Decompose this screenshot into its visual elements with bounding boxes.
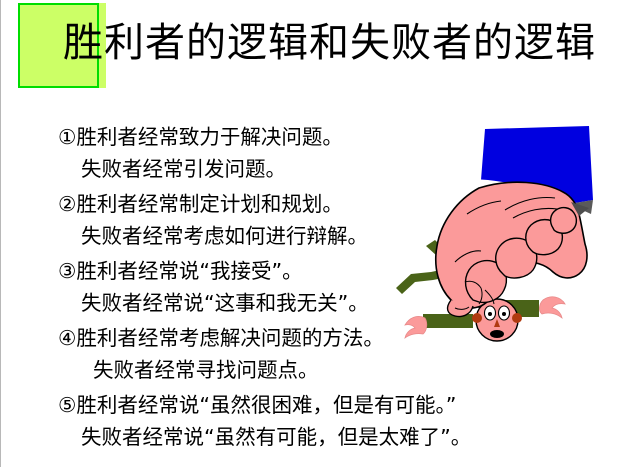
bullet-main-line: ⑤胜利者经常说“虽然很困难，但是有可能。” [58,390,558,422]
list-item: ⑤胜利者经常说“虽然很困难，但是有可能。” 失败者经常说“虽然有可能，但是太难了… [58,390,558,453]
illustration-hand-and-figure [393,122,622,372]
slide-title-area: 胜利者的逻辑和失败者的逻辑 [1,0,622,100]
hand-shape [436,182,587,316]
page-title: 胜利者的逻辑和失败者的逻辑 [63,17,603,69]
slide-canvas: 胜利者的逻辑和失败者的逻辑 ①胜利者经常致力于解决问题。 失败者经常引发问题。 … [0,0,622,467]
bullet-sub-line: 失败者经常说“虽然有可能，但是太难了”。 [58,422,558,454]
